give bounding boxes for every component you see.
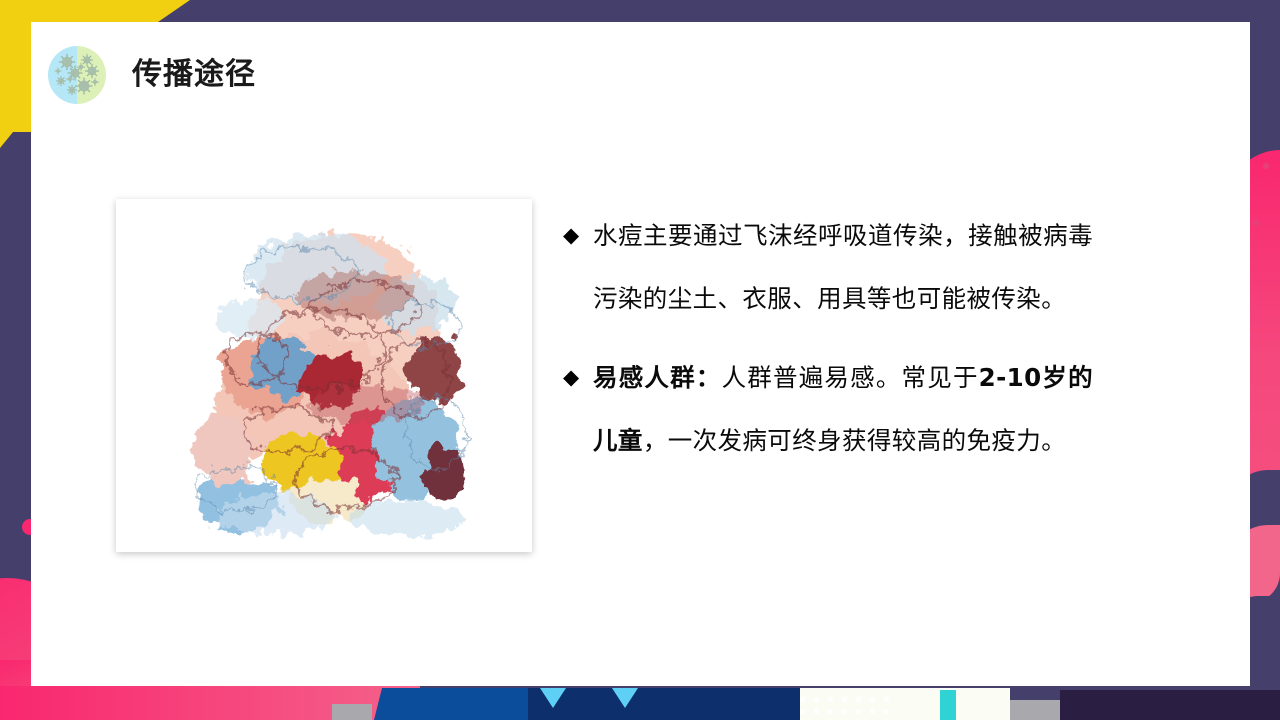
diamond-bullet-icon: ◆ [563, 346, 593, 409]
content-card: 传播途径 [31, 22, 1250, 686]
chickenpox-child-photo [116, 199, 532, 552]
bullet-run: 水痘主要通过飞沫经呼吸道传染，接触被病毒污染的尘土、衣服、用具等也可能被传染。 [593, 221, 1093, 313]
teal-vertical-bar [940, 690, 956, 720]
diamond-bullet-icon: ◆ [563, 204, 593, 267]
right-pink-dot-lower [1253, 220, 1259, 226]
bullet-text-2: 易感人群：人群普遍易感。常见于2-10岁的儿童，一次发病可终身获得较高的免疫力。 [593, 346, 1093, 472]
bullet-list: ◆ 水痘主要通过飞沫经呼吸道传染，接触被病毒污染的尘土、衣服、用具等也可能被传染… [563, 204, 1093, 488]
bottom-grey-block-left [332, 704, 372, 720]
slide-body: ◆ 水痘主要通过飞沫经呼吸道传染，接触被病毒污染的尘土、衣服、用具等也可能被传染… [31, 22, 1250, 686]
bullet-text-1: 水痘主要通过飞沫经呼吸道传染，接触被病毒污染的尘土、衣服、用具等也可能被传染。 [593, 204, 1093, 330]
list-item: ◆ 易感人群：人群普遍易感。常见于2-10岁的儿童，一次发病可终身获得较高的免疫… [563, 346, 1093, 472]
bullet-run: ，一次发病可终身获得较高的免疫力。 [643, 426, 1066, 455]
bottom-dot-grid [800, 697, 898, 720]
bullet-run-bold: 易感人群： [593, 363, 722, 392]
bottom-right-dark-panel [1060, 690, 1280, 720]
bullet-run: 人群普遍易感。常见于 [722, 363, 979, 392]
right-pink-dot-upper [1263, 163, 1269, 169]
list-item: ◆ 水痘主要通过飞沫经呼吸道传染，接触被病毒污染的尘土、衣服、用具等也可能被传染… [563, 204, 1093, 330]
slide-root: 传播途径 [0, 0, 1280, 720]
